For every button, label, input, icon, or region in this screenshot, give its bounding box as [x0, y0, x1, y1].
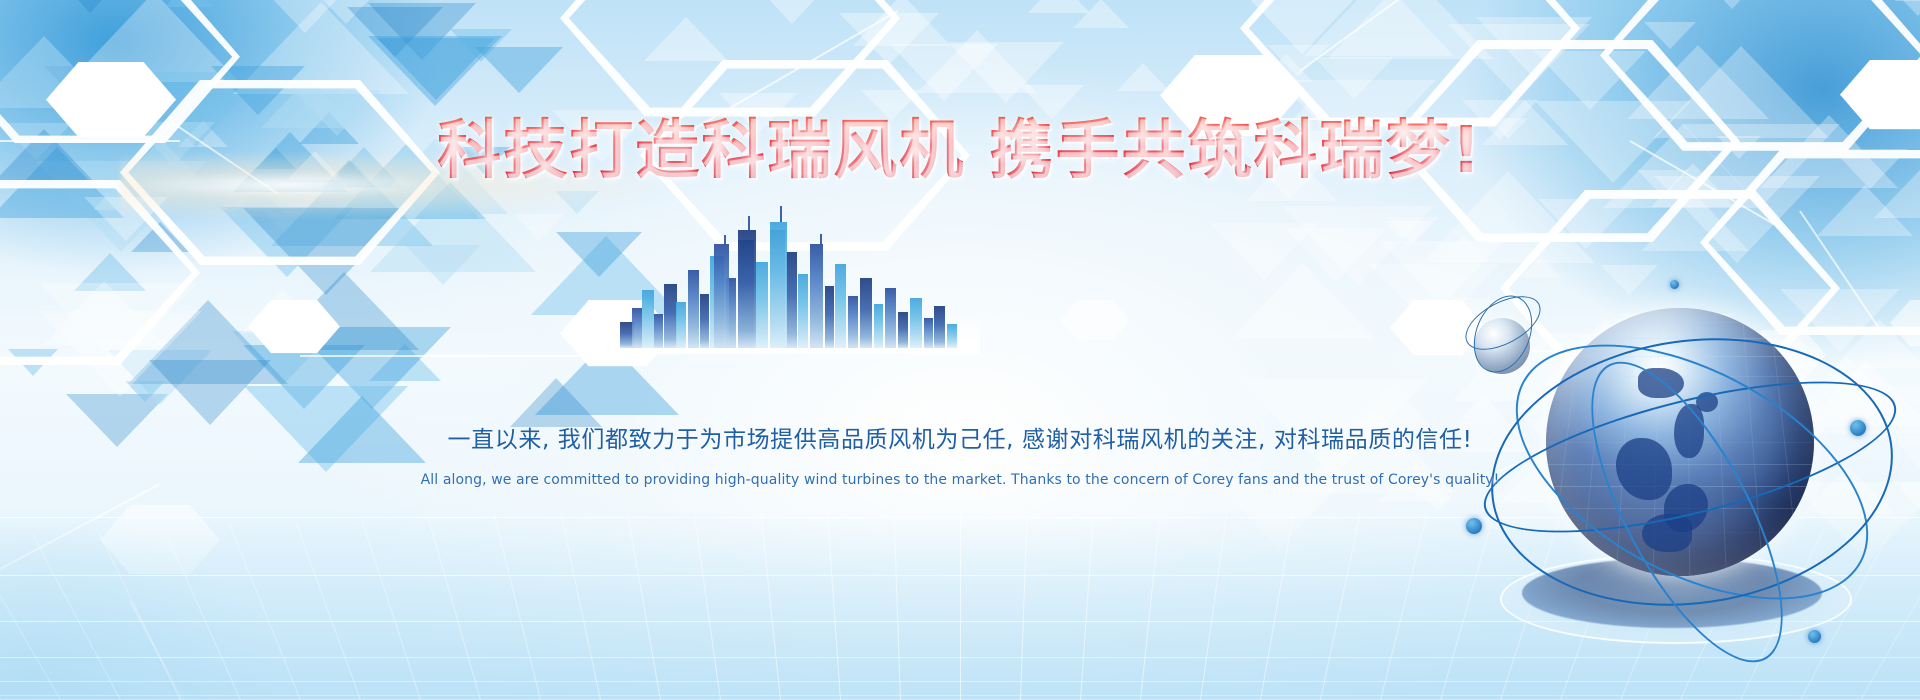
triangle-shape — [1895, 0, 1920, 1]
triangle-shape — [368, 3, 476, 60]
grid-line-vertical — [1020, 510, 1028, 700]
grid-line-vertical — [1140, 511, 1161, 700]
building-shape — [947, 324, 957, 348]
triangle-shape — [1285, 228, 1387, 282]
building-shape — [848, 296, 858, 348]
grid-line-vertical — [694, 512, 721, 700]
triangle-shape — [38, 311, 202, 397]
triangle-shape — [450, 29, 512, 62]
building-shape — [700, 294, 709, 348]
triangle-shape — [1476, 17, 1592, 78]
triangle-shape — [1627, 45, 1769, 119]
grid-line-vertical — [361, 519, 421, 700]
triangle-shape — [839, 13, 939, 65]
grid-line-vertical — [163, 526, 241, 700]
building-shape — [898, 312, 908, 348]
triangle-shape — [853, 0, 951, 46]
triangle-shape — [1644, 22, 1696, 49]
triangle-shape — [1703, 0, 1761, 9]
triangle-shape — [65, 0, 115, 13]
triangle-shape — [304, 0, 388, 24]
building-shape — [688, 270, 699, 348]
triangle-shape — [1210, 223, 1318, 280]
building-shape — [825, 286, 834, 348]
building-shape — [632, 308, 642, 348]
triangle-shape — [44, 66, 146, 120]
triangle-shape — [1117, 63, 1169, 91]
triangle-shape — [74, 253, 146, 291]
hexagon-shape — [248, 300, 340, 353]
building-shape — [786, 252, 797, 348]
grid-line-vertical — [561, 514, 601, 700]
hexagon-shape — [1240, 0, 1580, 127]
triangle-shape — [948, 42, 1064, 103]
building-shape — [642, 290, 654, 348]
triangle-shape — [39, 283, 197, 366]
triangle-shape — [128, 300, 288, 384]
triangle-shape — [149, 360, 271, 425]
building-shape — [885, 288, 896, 348]
mesh-line — [300, 355, 600, 357]
grid-line-vertical — [827, 510, 841, 700]
grid-line-vertical — [31, 532, 121, 700]
grid-line-vertical — [229, 524, 301, 700]
triangle-shape — [108, 350, 212, 405]
page-title: 科技打造科瑞风机 携手共筑科瑞梦! — [0, 118, 1920, 185]
triangle-shape — [1259, 54, 1313, 82]
triangle-shape — [266, 0, 344, 33]
building-shape — [934, 306, 945, 348]
orbit-node — [1670, 280, 1679, 289]
grid-line-vertical — [760, 511, 781, 700]
grid-line-vertical — [1080, 510, 1094, 700]
antenna-mast — [780, 206, 782, 222]
grid-line-vertical — [1320, 514, 1360, 700]
triangle-shape — [1538, 199, 1634, 249]
glass-globe-graphic — [1460, 250, 1920, 670]
triangle-shape — [125, 381, 165, 402]
antenna-mast — [748, 216, 750, 230]
grid-line-vertical — [428, 517, 481, 700]
subtitle-chinese: 一直以来, 我们都致力于为市场提供高品质风机为己任, 感谢对科瑞风机的关注, 对… — [0, 420, 1920, 454]
triangle-shape — [0, 36, 113, 108]
building-shape — [676, 302, 686, 348]
triangle-shape — [1304, 0, 1454, 56]
triangle-shape — [1073, 0, 1129, 28]
globe-latitude-line — [1546, 338, 1814, 339]
triangle-shape — [232, 331, 334, 385]
grid-line-vertical — [960, 510, 961, 700]
tower-shape — [738, 230, 756, 348]
orbit-node — [1808, 630, 1821, 643]
triangle-shape — [8, 349, 58, 376]
triangle-shape — [369, 344, 441, 381]
grid-line-vertical — [0, 539, 1, 700]
grid-line-vertical — [893, 510, 901, 700]
mesh-line — [1299, 0, 1422, 72]
headline-text: 科技打造科瑞风机 携手共筑科瑞梦! — [437, 114, 1482, 188]
building-shape — [910, 298, 922, 348]
grid-line-vertical — [1260, 513, 1294, 700]
triangle-shape — [644, 17, 728, 61]
antenna-mast — [820, 234, 822, 244]
triangle-shape — [131, 222, 189, 252]
triangle-shape — [1267, 45, 1329, 77]
building-shape — [860, 278, 872, 348]
triangle-shape — [240, 288, 326, 333]
triangle-shape — [293, 327, 451, 409]
triangle-shape — [1641, 194, 1749, 251]
building-shape — [835, 264, 846, 348]
triangle-shape — [1327, 0, 1493, 59]
triangle-shape — [890, 44, 998, 101]
building-shape — [756, 262, 768, 348]
building-shape — [874, 304, 883, 348]
triangle-shape — [1387, 217, 1439, 245]
triangle-shape — [165, 0, 213, 7]
hexagon-shape — [1060, 300, 1130, 340]
triangle-shape — [1416, 489, 1458, 511]
city-skyline-icon — [620, 228, 960, 348]
triangle-shape — [1314, 57, 1394, 99]
triangle-shape — [347, 7, 443, 57]
tower-shape — [714, 244, 729, 348]
triangle-shape — [243, 208, 409, 295]
globe-latitude-line — [1546, 322, 1814, 323]
triangle-shape — [1875, 0, 1920, 16]
tower-shape — [770, 222, 787, 348]
grid-line-vertical — [1200, 512, 1227, 700]
triangle-shape — [69, 0, 239, 82]
triangle-shape — [1384, 221, 1432, 247]
grid-line-vertical — [295, 521, 361, 700]
triangle-shape — [475, 47, 563, 93]
triangle-shape — [377, 38, 495, 100]
triangle-shape — [405, 245, 481, 285]
grid-line-vertical — [494, 516, 541, 700]
triangle-shape — [43, 281, 165, 345]
building-shape — [654, 314, 663, 348]
building-shape — [798, 274, 808, 348]
triangle-shape — [1534, 51, 1646, 110]
subtitle-english: All along, we are committed to providing… — [0, 472, 1920, 488]
triangle-shape — [269, 272, 419, 350]
promo-banner: 科技打造科瑞风机 携手共筑科瑞梦! 一直以来, 我们都致力于为市场提供高品质风机… — [0, 0, 1920, 700]
antenna-mast — [724, 235, 726, 244]
triangle-shape — [1282, 206, 1434, 286]
triangle-shape — [233, 2, 409, 94]
triangle-shape — [1231, 263, 1375, 339]
triangle-shape — [1028, 0, 1090, 13]
triangle-shape — [917, 30, 1037, 93]
hexagon-shape — [560, 0, 900, 117]
triangle-shape — [243, 345, 365, 409]
triangle-shape — [1817, 185, 1913, 236]
triangle-shape — [1448, 24, 1590, 99]
grid-line-vertical — [1380, 516, 1427, 700]
orbit-node — [1466, 518, 1482, 534]
triangle-shape — [765, 0, 819, 24]
building-shape — [924, 318, 933, 348]
grid-line-vertical — [627, 513, 661, 700]
triangle-shape — [211, 66, 305, 115]
building-shape — [810, 244, 823, 348]
triangle-shape — [1241, 0, 1363, 54]
triangle-shape — [368, 36, 502, 106]
grid-line-vertical — [97, 529, 181, 700]
grid-line-vertical — [0, 535, 61, 700]
